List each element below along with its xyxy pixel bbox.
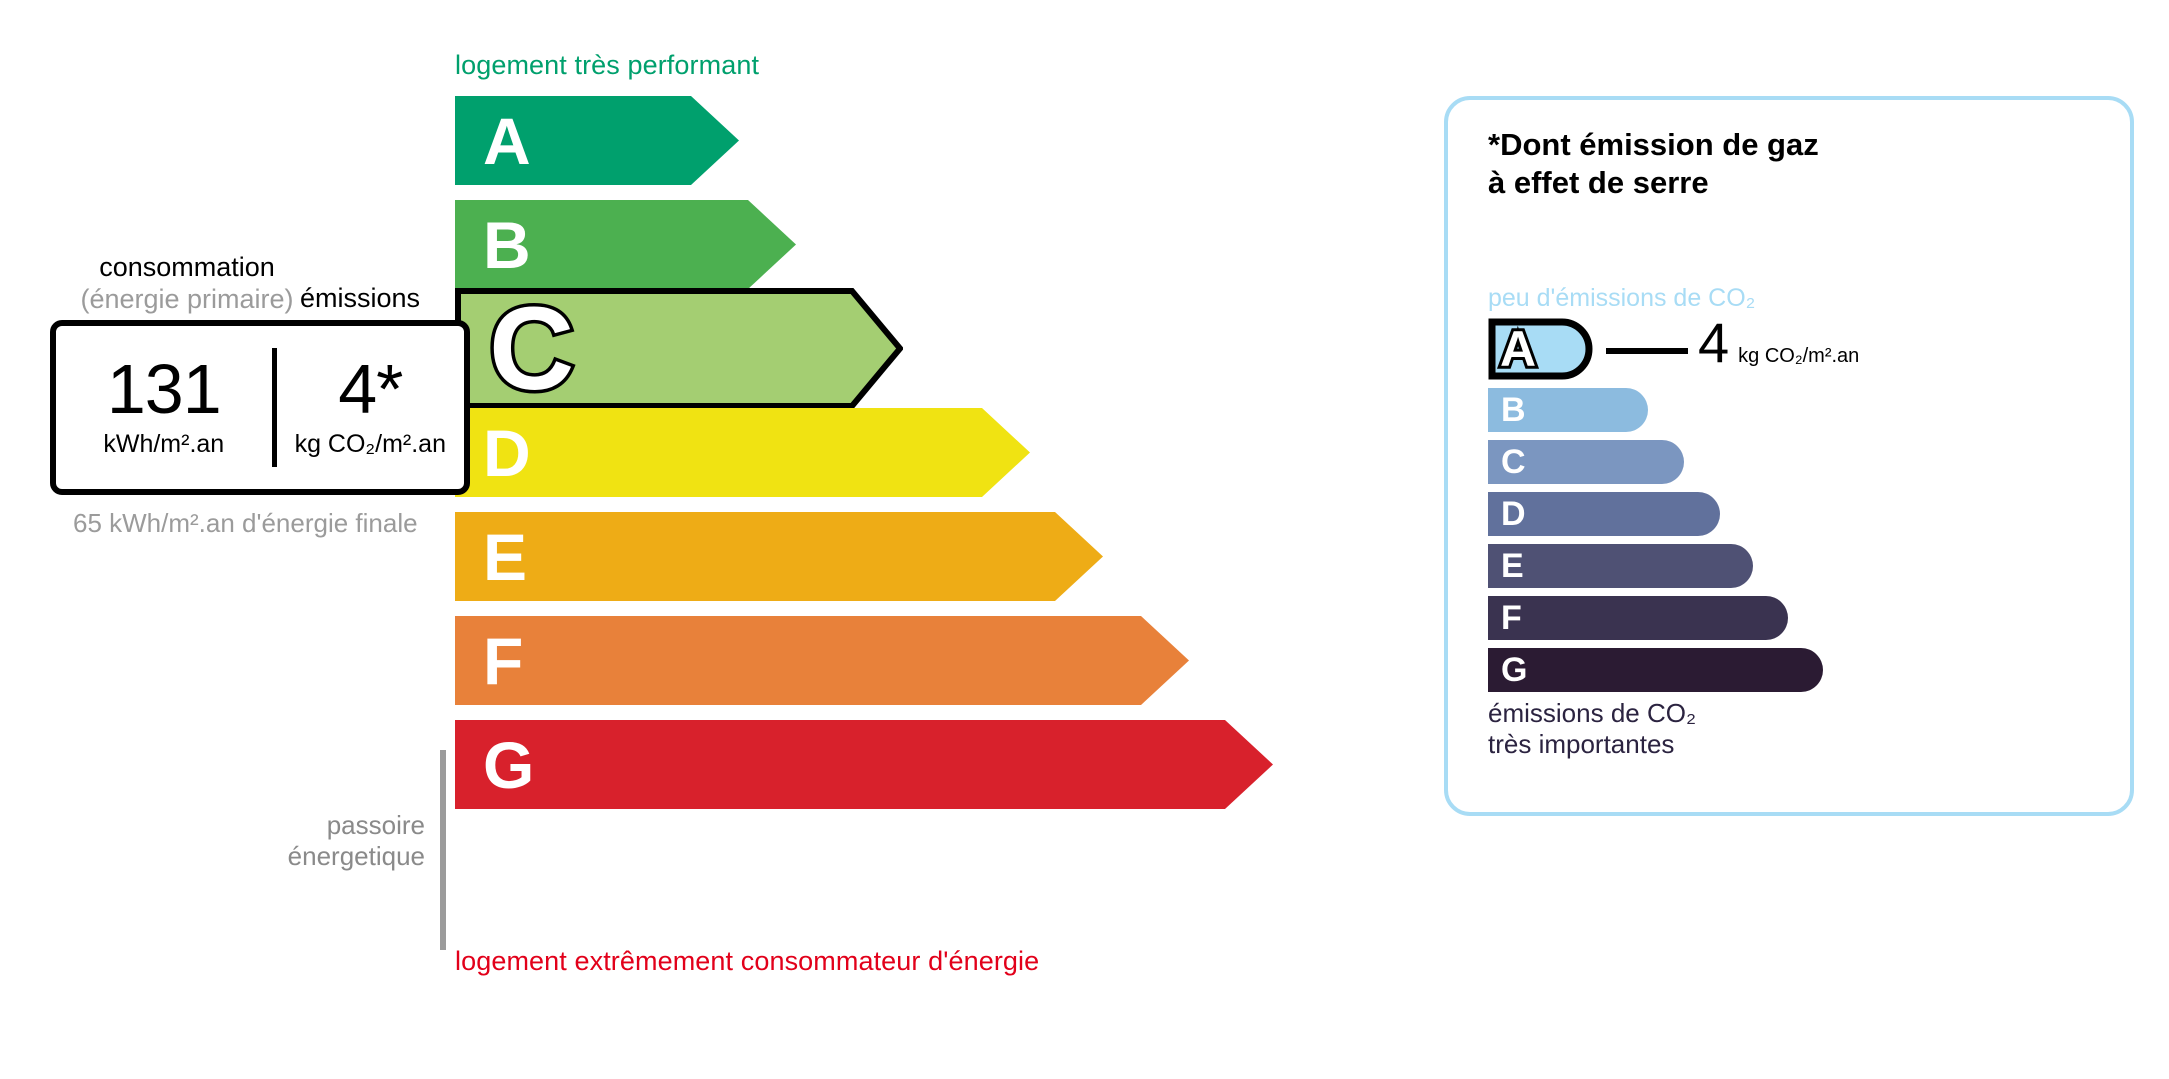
co2-bar-f: F [1488,596,1788,640]
energy-bar-c: C [455,288,903,409]
consumption-header-main: consommation [99,252,275,282]
energy-bar-letter-e: E [483,524,527,590]
consumption-value-cell: 131 kWh/m².an [56,326,272,489]
co2-selected-value: 4 [1698,315,1729,371]
energy-bar-letter-b: B [483,212,531,278]
final-energy-note: 65 kWh/m².an d'énergie finale [73,508,418,540]
co2-bar-c: C [1488,440,1684,484]
energy-bar-d: D [455,408,1030,497]
energy-bar-letter-d: D [483,420,531,486]
emissions-header: émissions [300,283,420,314]
co2-bar-letter-c: C [1501,445,1526,479]
co2-panel-title: *Dont émission de gaz à effet de serre [1488,126,1819,202]
emissions-unit: kg CO₂/m².an [295,430,446,459]
energy-bar-letter-f: F [483,628,523,694]
scale-top-caption: logement très performant [455,50,759,81]
co2-bar-letter-g: G [1501,653,1527,687]
energy-bar-e: E [455,512,1103,601]
co2-bar-letter-e: E [1501,549,1524,583]
energy-bar-shape-f [455,616,1189,705]
energy-bar-g: G [455,720,1273,809]
co2-selected-unit: kg CO₂/m².an [1738,345,1859,368]
co2-bottom-caption: émissions de CO₂ très importantes [1488,698,1696,760]
co2-bar-d: D [1488,492,1720,536]
consumption-header: consommation (énergie primaire) [62,252,312,316]
energy-bar-f: F [455,616,1189,705]
energy-bar-shape-g [455,720,1273,809]
co2-bar-letter-b: B [1501,393,1526,427]
co2-top-caption: peu d'émissions de CO₂ [1488,284,1755,313]
emissions-value: 4* [338,356,402,423]
co2-bar-b: B [1488,388,1648,432]
co2-bar-e: E [1488,544,1753,588]
energy-bar-a: A [455,96,739,185]
value-box: 131 kWh/m².an 4* kg CO₂/m².an [50,320,470,495]
consumption-header-sub: (énergie primaire) [62,284,312,316]
scale-bottom-caption: logement extrêmement consommateur d'éner… [455,946,1039,977]
energy-bar-letter-a: A [483,108,531,174]
energy-bar-letter-g: G [483,732,534,798]
co2-panel: *Dont émission de gaz à effet de serre p… [1444,96,2134,816]
passoire-energetique-label: passoire énergetique [280,810,425,872]
passoire-bracket-line [440,750,446,950]
energy-bar-shape-d [455,408,1030,497]
energy-performance-scale: logement très performant ABCDEFG logemen… [0,0,1400,1079]
emissions-value-cell: 4* kg CO₂/m².an [277,326,464,489]
co2-bar-letter-d: D [1501,497,1526,531]
energy-bar-letter-c: C [489,290,574,408]
co2-connector-line [1606,348,1688,354]
co2-selected-badge: A [1488,318,1593,380]
energy-bar-b: B [455,200,796,289]
co2-selected-value-group: 4 kg CO₂/m².an [1698,315,1859,371]
consumption-value: 131 [107,356,221,423]
co2-bar-letter-f: F [1501,601,1522,635]
consumption-unit: kWh/m².an [103,430,224,459]
co2-selected-letter: A [1500,324,1536,374]
co2-bar-g: G [1488,648,1823,692]
energy-bar-shape-e [455,512,1103,601]
